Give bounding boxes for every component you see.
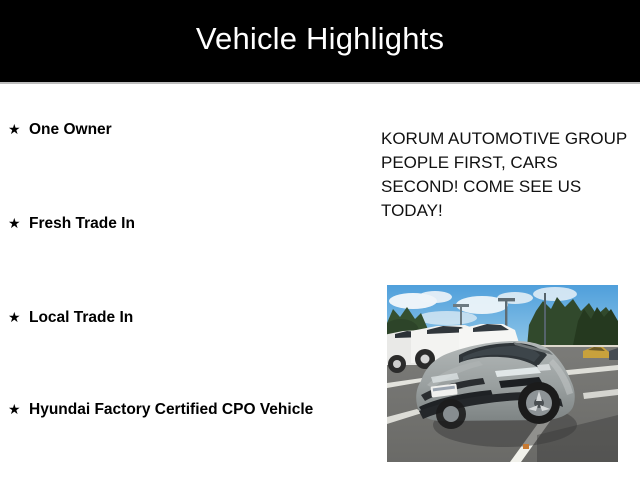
star-bullet-icon: ★ bbox=[8, 212, 29, 235]
highlight-label: Local Trade In bbox=[29, 306, 133, 329]
list-item: ★ Local Trade In bbox=[8, 306, 338, 329]
header-divider bbox=[0, 82, 640, 84]
star-bullet-icon: ★ bbox=[8, 306, 29, 329]
page-title: Vehicle Highlights bbox=[0, 0, 640, 82]
highlight-label: Hyundai Factory Certified CPO Vehicle bbox=[29, 398, 313, 421]
highlight-label: Fresh Trade In bbox=[29, 212, 135, 235]
header-banner: Vehicle Highlights bbox=[0, 0, 640, 82]
list-item: ★ Hyundai Factory Certified CPO Vehicle bbox=[8, 398, 338, 421]
star-bullet-icon: ★ bbox=[8, 398, 29, 421]
list-item: ★ Fresh Trade In bbox=[8, 212, 338, 235]
vehicle-photo-image bbox=[387, 285, 618, 462]
dealer-message: KORUM AUTOMOTIVE GROUP PEOPLE FIRST, CAR… bbox=[381, 127, 627, 223]
vehicle-photo bbox=[387, 285, 618, 462]
list-item: ★ One Owner bbox=[8, 118, 338, 141]
vehicle-highlights-slide: Vehicle Highlights ★ One Owner ★ Fresh T… bbox=[0, 0, 640, 480]
highlight-label: One Owner bbox=[29, 118, 112, 141]
star-bullet-icon: ★ bbox=[8, 118, 29, 141]
